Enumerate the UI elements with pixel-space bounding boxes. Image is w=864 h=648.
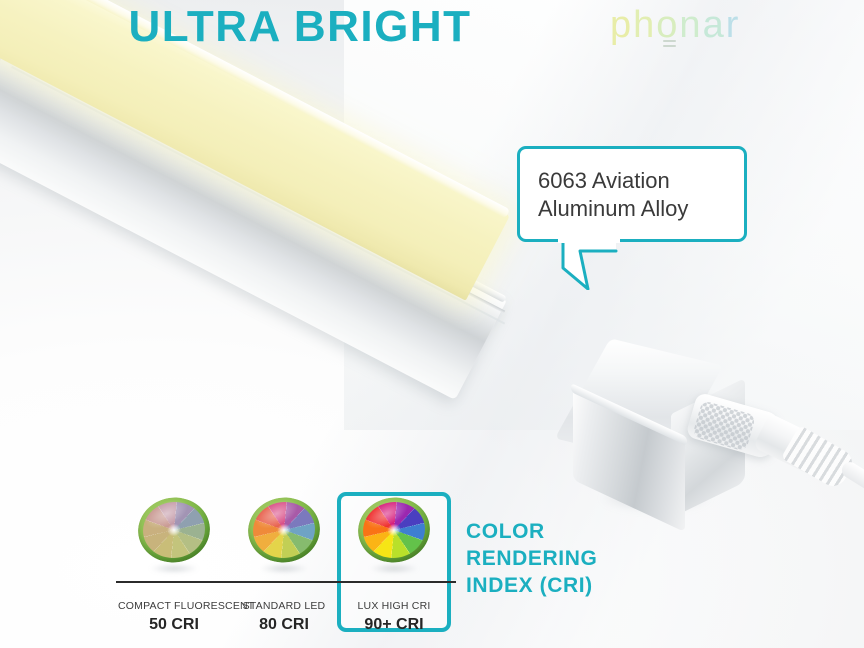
cri-comparison: COMPACT FLUORESCENT 50 CRI STANDARD LED … (0, 470, 864, 648)
page-title: ULTRA BRIGHT (0, 2, 600, 52)
cri-item-standard-led: STANDARD LED 80 CRI (228, 492, 340, 634)
equals-mark-icon (663, 40, 676, 51)
cri-section-title: COLOR RENDERING INDEX (CRI) (466, 518, 597, 599)
cri-item-label: LUX HIGH CRI (338, 600, 450, 612)
citrus-color-wheel-icon (338, 492, 450, 578)
fruit-shadow (250, 562, 318, 575)
callout-bubble: 6063 Aviation Aluminum Alloy (517, 146, 747, 242)
fruit-slice (134, 493, 214, 567)
logo-letter-o: o (656, 6, 679, 44)
speech-bubble-tail (558, 238, 620, 290)
citrus-color-wheel-icon (228, 492, 340, 578)
logo-letter-a: a (703, 6, 726, 44)
cri-item-label: STANDARD LED (228, 600, 340, 612)
citrus-color-wheel-icon (118, 492, 230, 578)
logo-letter-n: n (679, 6, 702, 44)
brand-logo: phonar (610, 6, 740, 44)
cri-item-lux-high-cri: LUX HIGH CRI 90+ CRI (338, 492, 450, 634)
callout-text: 6063 Aviation Aluminum Alloy (538, 167, 688, 223)
fruit-slice (354, 493, 434, 567)
fruit-slice (244, 493, 324, 567)
cri-item-compact-fluorescent: COMPACT FLUORESCENT 50 CRI (118, 492, 230, 634)
logo-letter-h: h (633, 6, 656, 44)
cri-item-value: 90+ CRI (338, 616, 450, 634)
cri-item-value: 50 CRI (118, 616, 230, 634)
cri-item-value: 80 CRI (228, 616, 340, 634)
fruit-shadow (360, 562, 428, 575)
product-marketing-image: ULTRA BRIGHT phonar 6063 Aviation Alumin… (0, 0, 864, 648)
logo-letter-r: r (726, 6, 741, 44)
cri-item-label: COMPACT FLUORESCENT (118, 600, 230, 612)
fruit-shadow (140, 562, 208, 575)
logo-letter-p: p (610, 6, 633, 44)
